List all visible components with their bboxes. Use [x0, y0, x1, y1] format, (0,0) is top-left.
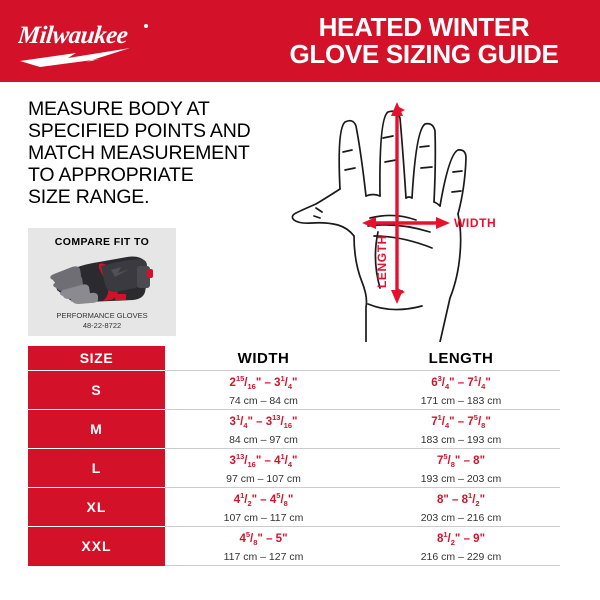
table-row: L 313/16" – 41/4" 97 cm – 107 cm 75/8" –…: [28, 449, 560, 488]
row-width-cell: 313/16" – 41/4" 97 cm – 107 cm: [165, 449, 362, 488]
compare-fit-product-sku: 48-22-8722: [28, 321, 176, 331]
compare-fit-product-name: PERFORMANCE GLOVES: [28, 311, 176, 321]
row-width-cell: 215/16" – 31/4" 74 cm – 84 cm: [165, 371, 362, 410]
instruction-line-1: MEASURE BODY AT: [28, 98, 268, 120]
title-line-2: GLOVE SIZING GUIDE: [255, 41, 593, 68]
row-length-inches: 81/2" – 9": [362, 528, 560, 550]
length-label: LENGTH: [375, 235, 389, 288]
row-length-inches: 63/4" – 71/4": [362, 372, 560, 394]
row-length-cm: 203 cm – 216 cm: [362, 512, 560, 525]
row-length-inches: 71/4" – 75/8": [362, 411, 560, 433]
row-length-cell: 8" – 81/2" 203 cm – 216 cm: [362, 488, 560, 527]
row-length-cm: 193 cm – 203 cm: [362, 473, 560, 486]
row-length-cell: 63/4" – 71/4" 171 cm – 183 cm: [362, 371, 560, 410]
table-row: M 31/4" – 313/16" 84 cm – 97 cm 71/4" – …: [28, 410, 560, 449]
page-title: HEATED WINTER GLOVE SIZING GUIDE: [255, 14, 593, 68]
header-size: SIZE: [28, 346, 165, 371]
row-width-cell: 41/2" – 45/8" 107 cm – 117 cm: [165, 488, 362, 527]
table-row: XXL 45/8" – 5" 117 cm – 127 cm 81/2" – 9…: [28, 527, 560, 566]
row-width-cm: 74 cm – 84 cm: [165, 395, 362, 408]
svg-text:Milwaukee: Milwaukee: [18, 22, 129, 49]
row-width-cm: 117 cm – 127 cm: [165, 551, 362, 564]
header-width: WIDTH: [165, 346, 362, 371]
row-length-cm: 183 cm – 193 cm: [362, 434, 560, 447]
row-width-inches: 215/16" – 31/4": [165, 372, 362, 394]
header-length: LENGTH: [362, 346, 560, 371]
title-line-1: HEATED WINTER: [319, 12, 530, 42]
table-row: XL 41/2" – 45/8" 107 cm – 117 cm 8" – 81…: [28, 488, 560, 527]
row-width-cm: 107 cm – 117 cm: [165, 512, 362, 525]
header-banner: Milwaukee HEATED WINTER GLOVE SIZING GUI…: [0, 0, 600, 82]
row-size-label: M: [28, 410, 165, 449]
row-size-label: XXL: [28, 527, 165, 566]
row-size-label: L: [28, 449, 165, 488]
row-width-cm: 84 cm – 97 cm: [165, 434, 362, 447]
glove-image: [41, 252, 163, 308]
width-label: WIDTH: [454, 216, 496, 230]
row-width-inches: 41/2" – 45/8": [165, 489, 362, 511]
instruction-line-4: TO APPROPRIATE: [28, 164, 268, 186]
row-size-label: S: [28, 371, 165, 410]
compare-fit-box: COMPARE FIT TO PERFORMANCE GLOVES 48-22-…: [28, 228, 176, 336]
compare-fit-title: COMPARE FIT TO: [28, 236, 176, 248]
table-row: S 215/16" – 31/4" 74 cm – 84 cm 63/4" – …: [28, 371, 560, 410]
instruction-text: MEASURE BODY AT SPECIFIED POINTS AND MAT…: [28, 98, 268, 208]
row-length-cm: 216 cm – 229 cm: [362, 551, 560, 564]
milwaukee-logo: Milwaukee: [18, 17, 158, 69]
instruction-line-3: MATCH MEASUREMENT: [28, 142, 268, 164]
row-size-label: XL: [28, 488, 165, 527]
row-length-cell: 71/4" – 75/8" 183 cm – 193 cm: [362, 410, 560, 449]
row-length-inches: 8" – 81/2": [362, 489, 560, 511]
row-width-cell: 31/4" – 313/16" 84 cm – 97 cm: [165, 410, 362, 449]
compare-fit-caption: PERFORMANCE GLOVES 48-22-8722: [28, 311, 176, 330]
size-chart-table: SIZE WIDTH LENGTH S 215/16" – 31/4" 74 c…: [28, 346, 560, 566]
row-width-cell: 45/8" – 5" 117 cm – 127 cm: [165, 527, 362, 566]
row-width-inches: 313/16" – 41/4": [165, 450, 362, 472]
row-width-inches: 31/4" – 313/16": [165, 411, 362, 433]
row-width-inches: 45/8" – 5": [165, 528, 362, 550]
row-length-cell: 81/2" – 9" 216 cm – 229 cm: [362, 527, 560, 566]
row-length-cm: 171 cm – 183 cm: [362, 395, 560, 408]
row-width-cm: 97 cm – 107 cm: [165, 473, 362, 486]
table-header-row: SIZE WIDTH LENGTH: [28, 346, 560, 371]
instruction-line-5: SIZE RANGE.: [28, 186, 268, 208]
row-length-cell: 75/8" – 8" 193 cm – 203 cm: [362, 449, 560, 488]
row-length-inches: 75/8" – 8": [362, 450, 560, 472]
hand-measurement-diagram: WIDTH LENGTH: [282, 92, 588, 342]
instruction-line-2: SPECIFIED POINTS AND: [28, 120, 268, 142]
